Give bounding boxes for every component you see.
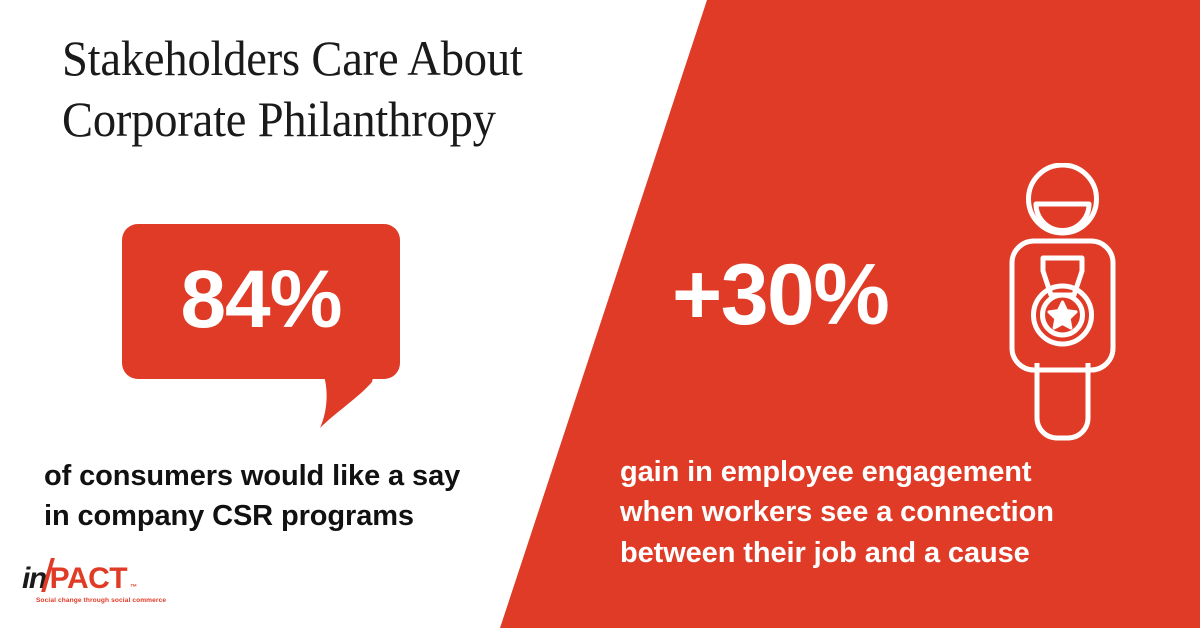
right-caption-line-3: between their job and a cause xyxy=(620,533,1160,573)
logo-main: PACT xyxy=(50,564,127,594)
page-title: Stakeholders Care About Corporate Philan… xyxy=(62,28,620,150)
infographic-canvas: Stakeholders Care About Corporate Philan… xyxy=(0,0,1200,628)
title-line-2: Corporate Philanthropy xyxy=(62,89,620,150)
logo-wordmark: in PACT ™ xyxy=(22,560,157,594)
left-stat-value: 84% xyxy=(122,224,400,379)
right-caption-line-1: gain in employee engagement xyxy=(620,452,1160,492)
left-caption-line-1: of consumers would like a say xyxy=(44,456,544,496)
left-caption-line-2: in company CSR programs xyxy=(44,496,544,536)
right-caption-line-2: when workers see a connection xyxy=(620,492,1160,532)
right-caption: gain in employee engagement when workers… xyxy=(620,452,1160,573)
speech-bubble-tail-icon xyxy=(318,372,378,432)
speech-bubble-stat-group: 84% xyxy=(122,224,400,426)
logo-tagline: Social change through social commerce xyxy=(36,597,157,604)
person-with-medal-icon xyxy=(995,163,1130,445)
left-caption: of consumers would like a say in company… xyxy=(44,456,544,536)
impact-logo[interactable]: in PACT ™ Social change through social c… xyxy=(22,560,157,612)
logo-trademark: ™ xyxy=(130,584,137,591)
right-stat-value: +30% xyxy=(672,252,972,338)
title-line-1: Stakeholders Care About xyxy=(62,28,620,89)
